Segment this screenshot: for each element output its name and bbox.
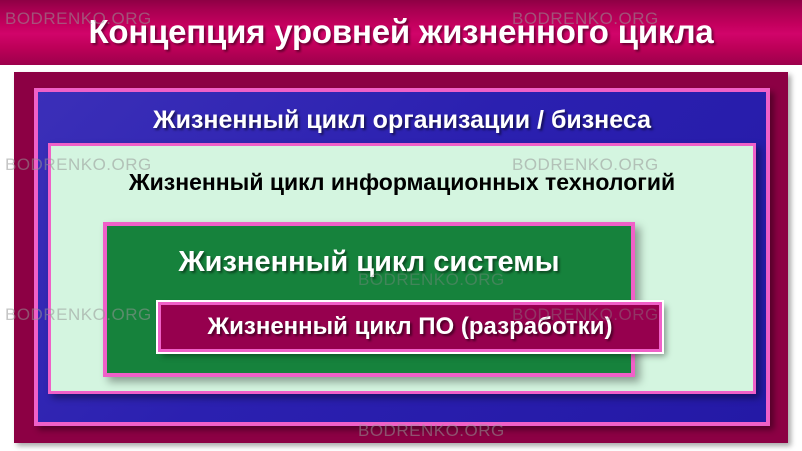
- diagram-level-3-label: Жизненный цикл информационных технологий: [48, 167, 756, 197]
- page-title: Концепция уровней жизненного цикла: [0, 12, 802, 52]
- diagram-level-5-label: Жизненный цикл ПО (разработки): [158, 310, 662, 344]
- diagram-level-2-label: Жизненный цикл организации / бизнеса: [34, 104, 770, 136]
- diagram-level-4-label: Жизненный цикл системы: [103, 243, 635, 281]
- slide-canvas: Концепция уровней жизненного цикла Жизне…: [0, 0, 802, 451]
